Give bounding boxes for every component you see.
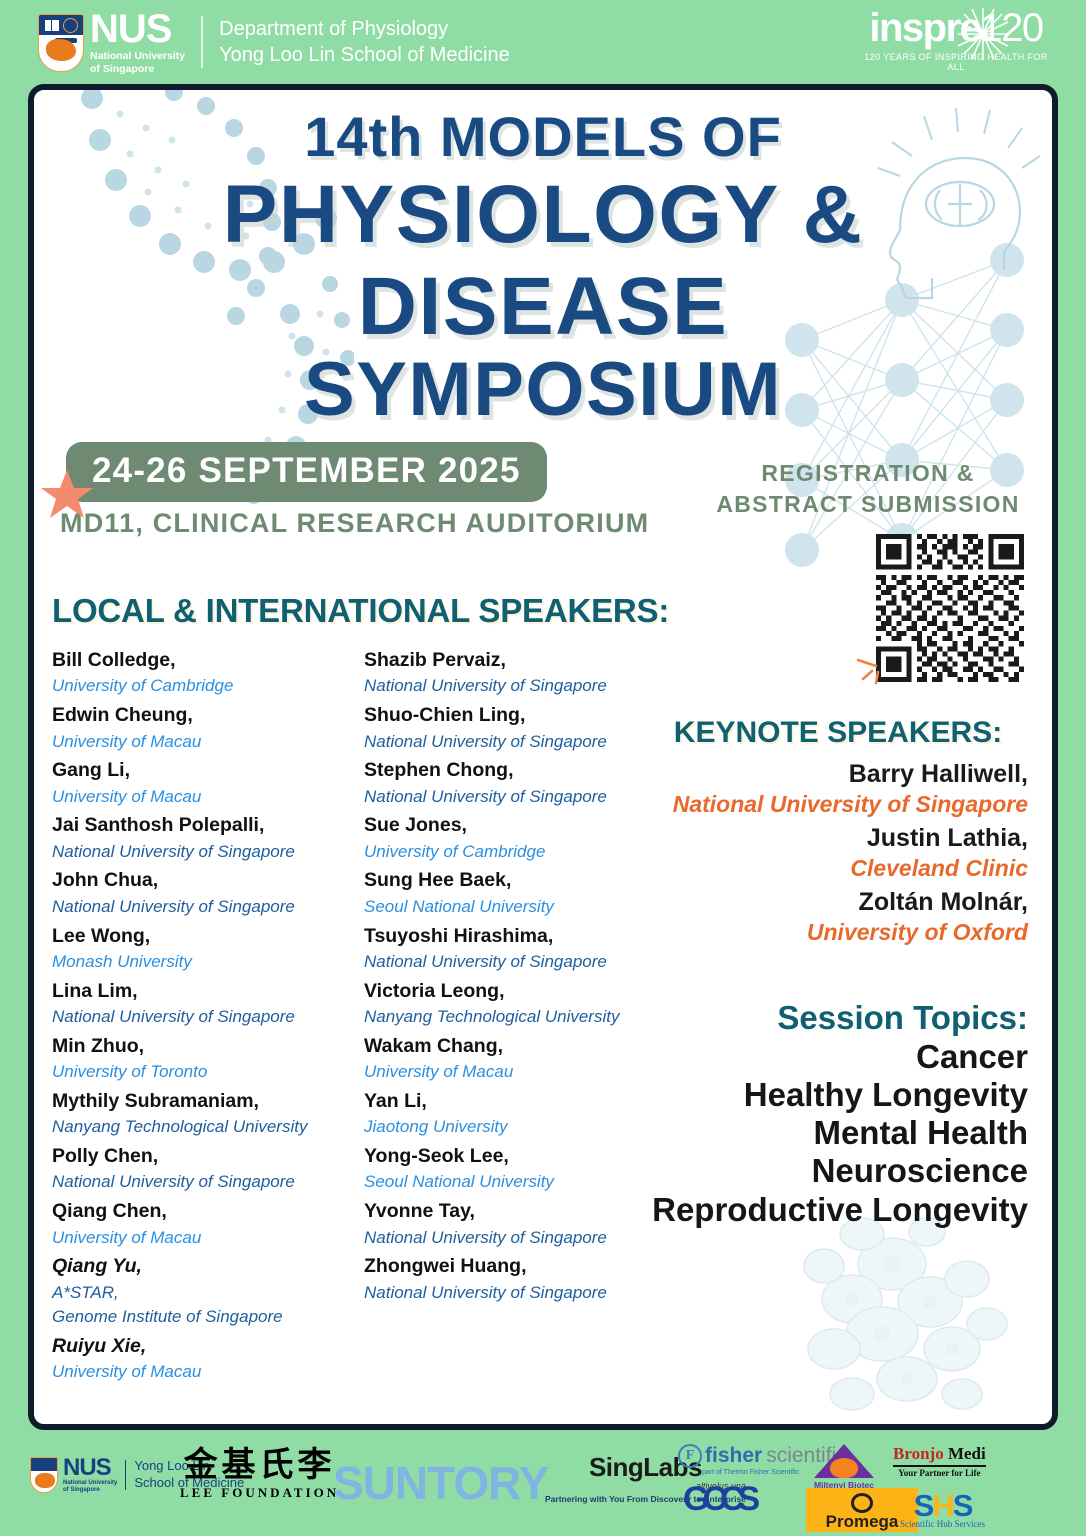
speaker-entry: Ruiyu Xie,University of Macau [52,1332,350,1385]
cell-cluster-decoration [762,1204,1042,1424]
sponsor-nus-divider [125,1460,126,1490]
title-line-3: SYMPOSIUM [34,348,1052,432]
header-divider [201,16,203,68]
speaker-affiliation: National University of Singapore [364,1281,662,1306]
star-icon [40,468,94,520]
speaker-name: Edwin Cheung, [52,701,350,729]
speaker-affiliation: University of Toronto [52,1060,350,1085]
speaker-name: John Chua, [52,866,350,894]
speaker-entry: Tsuyoshi Hirashima,National University o… [364,922,662,975]
department-title: Department of Physiology Yong Loo Lin Sc… [219,16,510,69]
speaker-name: Gang Li, [52,756,350,784]
speaker-name: Jai Santhosh Polepalli, [52,811,350,839]
nus-crest-icon [38,14,82,70]
speaker-affiliation: National University of Singapore [364,1226,662,1251]
event-venue: MD11, CLINICAL RESEARCH AUDITORIUM [60,508,649,539]
poster-title: 14th MODELS OF PHYSIOLOGY & DISEASE SYMP… [34,108,1052,432]
department-line1: Department of Physiology [219,16,510,42]
speaker-affiliation: National University of Singapore [52,895,350,920]
nus-sub-line2: of Singapore [90,63,185,75]
qr-code[interactable] [876,534,1024,682]
speaker-name: Qiang Yu, [52,1252,350,1280]
fisher-word: fisher [705,1444,762,1468]
speaker-entry: Bill Colledge,University of Cambridge [52,646,350,699]
keynote-speaker-name: Zoltán Molnár, [648,886,1028,918]
speaker-name: Sung Hee Baek, [364,866,662,894]
keynote-heading: KEYNOTE SPEAKERS: [648,716,1028,750]
sponsor-nus-sub1: National University [63,1480,117,1487]
registration-label-2: ABSTRACT SUBMISSION [708,489,1028,520]
nus-sub-line1: National University [90,50,185,62]
shs-tagline: Scientific Hub Services [900,1519,985,1529]
title-line-2: PHYSIOLOGY & DISEASE [34,169,1052,353]
speaker-affiliation: National University of Singapore [364,785,662,810]
sponsor-lee-foundation: 金基氏李 LEE FOUNDATION [180,1448,339,1501]
inspire-word-a: insp [869,6,945,50]
speaker-affiliation: National University of Singapore [364,674,662,699]
keynote-speaker-affiliation: Cleveland Clinic [648,854,1028,884]
inspire-tagline: 120 YEARS OF INSPIRING HEALTH FOR ALL [856,52,1056,72]
speaker-name: Min Zhuo, [52,1032,350,1060]
speaker-affiliation-line2: Genome Institute of Singapore [52,1305,350,1330]
bronjo-tagline: Your Partner for Life [893,1468,986,1478]
medi-word: Medi [948,1444,986,1463]
speaker-entry: Qiang Chen,University of Macau [52,1197,350,1250]
speaker-name: Shazib Pervaiz, [364,646,662,674]
speaker-entry: Jai Santhosh Polepalli,National Universi… [52,811,350,864]
speaker-affiliation: National University of Singapore [52,1005,350,1030]
nus-crest-small-icon [30,1457,58,1493]
speaker-affiliation: Seoul National University [364,895,662,920]
speaker-affiliation: University of Macau [52,1360,350,1385]
speaker-entry: Sung Hee Baek,Seoul National University [364,866,662,919]
page-header: NUS National University of Singapore Dep… [0,0,1086,84]
session-topic: Mental Health [608,1114,1028,1152]
speaker-name: Shuo-Chien Ling, [364,701,662,729]
title-line-1: 14th MODELS OF [34,108,1052,167]
session-topic: Neuroscience [608,1152,1028,1190]
speaker-affiliation: Nanyang Technological University [52,1115,350,1140]
speakers-heading: LOCAL & INTERNATIONAL SPEAKERS: [52,592,669,630]
sponsor-footer: NUS National University of Singapore Yon… [0,1436,1086,1536]
speaker-name: Mythily Subramaniam, [52,1087,350,1115]
speaker-name: Lee Wong, [52,922,350,950]
speaker-entry: Sue Jones,University of Cambridge [364,811,662,864]
speaker-affiliation: University of Macau [52,1226,350,1251]
bronjo-word: Bronjo [893,1444,944,1463]
bronjo-rule [893,1465,986,1467]
speaker-name: Ruiyu Xie, [52,1332,350,1360]
session-topic: Healthy Longevity [608,1076,1028,1114]
poster-card: 14th MODELS OF PHYSIOLOGY & DISEASE SYMP… [28,84,1058,1430]
event-dates-badge: 24-26 SEPTEMBER 2025 [66,442,547,502]
sponsor-gccs: GCCS [683,1480,753,1519]
miltenyi-mark-icon [814,1444,874,1478]
session-topics-list: CancerHealthy LongevityMental HealthNeur… [608,1038,1028,1229]
speaker-entry: Qiang Yu,A*STAR,Genome Institute of Sing… [52,1252,350,1330]
inspire-word-b: re [946,6,981,50]
sponsor-miltenyi-biotec: Miltenyi Biotec [812,1444,876,1490]
promega-mark-icon [851,1493,873,1513]
speaker-entry: Mythily Subramaniam,Nanyang Technologica… [52,1087,350,1140]
speaker-affiliation: University of Macau [52,730,350,755]
keynote-list: Barry Halliwell,National University of S… [648,758,1028,948]
nus-logo: NUS National University of Singapore [38,9,185,75]
speaker-entry: Gang Li,University of Macau [52,756,350,809]
speaker-affiliation: National University of Singapore [52,1170,350,1195]
department-line2: Yong Loo Lin School of Medicine [219,42,510,68]
sponsor-nus-sub2: of Singapore [63,1487,117,1494]
speakers-column-1: Bill Colledge,University of CambridgeEdw… [52,646,350,1387]
nus-acronym: NUS [90,9,185,49]
speaker-name: Lina Lim, [52,977,350,1005]
speaker-affiliation: National University of Singapore [364,730,662,755]
speaker-affiliation: National University of Singapore [52,840,350,865]
inspire-number: 120 [980,6,1042,50]
speaker-entry: Stephen Chong,National University of Sin… [364,756,662,809]
lee-foundation-name: LEE FOUNDATION [180,1485,339,1501]
speaker-affiliation: University of Cambridge [364,840,662,865]
speaker-entry: Min Zhuo,University of Toronto [52,1032,350,1085]
keynote-speaker-affiliation: University of Oxford [648,918,1028,948]
speakers-list: Bill Colledge,University of CambridgeEdw… [52,646,662,1387]
speaker-name: Qiang Chen, [52,1197,350,1225]
inspire120-logo: inspre120 120 YEARS OF INSPIRING HEALTH … [856,8,1056,78]
speaker-entry: Lina Lim,National University of Singapor… [52,977,350,1030]
speaker-name: Bill Colledge, [52,646,350,674]
shs-s2: S [953,1488,972,1523]
lee-foundation-cjk: 金基氏李 [180,1448,339,1482]
sponsor-shs: SHS Scientific Hub Services [900,1490,985,1529]
sparkle-accent-icon [854,650,894,690]
registration-label-1: REGISTRATION & [708,458,1028,489]
session-topic: Cancer [608,1038,1028,1076]
speaker-affiliation: National University of Singapore [364,950,662,975]
sponsor-bronjo-medi: Bronjo Medi Your Partner for Life [893,1444,986,1478]
speaker-entry: Lee Wong,Monash University [52,922,350,975]
keynote-block: KEYNOTE SPEAKERS: Barry Halliwell,Nation… [648,716,1028,950]
speaker-entry: Shuo-Chien Ling,National University of S… [364,701,662,754]
fisher-f-icon: F [678,1444,702,1468]
sponsor-suntory: SUNTORY [333,1456,548,1510]
shs-s1: S [914,1488,933,1523]
speaker-affiliation: A*STAR, [52,1281,350,1306]
speaker-entry: Edwin Cheung,University of Macau [52,701,350,754]
session-topic: Reproductive Longevity [608,1191,1028,1229]
keynote-speaker-affiliation: National University of Singapore [648,790,1028,820]
speaker-entry: John Chua,National University of Singapo… [52,866,350,919]
sponsor-nus-acronym: NUS [63,1456,117,1480]
speaker-affiliation: University of Cambridge [52,674,350,699]
speaker-name: Tsuyoshi Hirashima, [364,922,662,950]
keynote-speaker-name: Justin Lathia, [648,822,1028,854]
speaker-entry: Zhongwei Huang,National University of Si… [364,1252,662,1305]
speaker-affiliation: University of Macau [52,785,350,810]
speaker-entry: Shazib Pervaiz,National University of Si… [364,646,662,699]
session-topics-heading: Session Topics: [608,998,1028,1038]
keynote-speaker-name: Barry Halliwell, [648,758,1028,790]
speaker-name: Zhongwei Huang, [364,1252,662,1280]
shs-h: H [932,1488,952,1523]
speaker-entry: Polly Chen,National University of Singap… [52,1142,350,1195]
registration-block: REGISTRATION & ABSTRACT SUBMISSION [708,458,1028,682]
speaker-name: Polly Chen, [52,1142,350,1170]
session-topics-block: Session Topics: CancerHealthy LongevityM… [608,998,1028,1229]
speaker-name: Stephen Chong, [364,756,662,784]
speaker-name: Sue Jones, [364,811,662,839]
speaker-affiliation: Monash University [52,950,350,975]
